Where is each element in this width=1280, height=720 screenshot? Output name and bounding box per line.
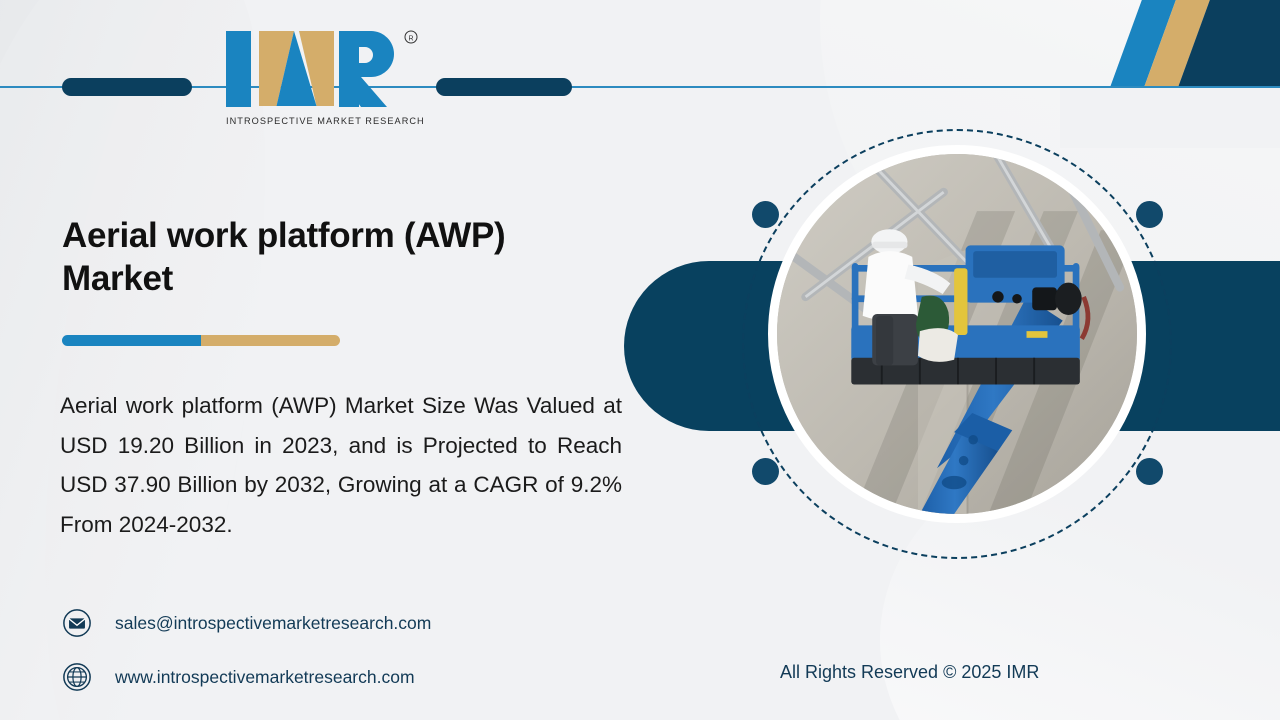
copyright-text: All Rights Reserved © 2025 IMR (780, 662, 1039, 683)
hero-photo (768, 145, 1146, 523)
contact-website-text: www.introspectivemarketresearch.com (115, 667, 415, 688)
header-bar-right (436, 78, 572, 96)
logo-mark: R (226, 28, 422, 110)
imr-logo: R INTROSPECTIVE MARKET RESEARCH (226, 28, 422, 138)
aerial-work-platform-illustration (777, 154, 1137, 514)
globe-icon (62, 662, 92, 692)
accent-segment-blue (62, 335, 201, 346)
svg-text:R: R (408, 36, 413, 43)
logo-tagline: INTROSPECTIVE MARKET RESEARCH (226, 116, 422, 126)
header-bar-left (62, 78, 192, 96)
envelope-icon (62, 608, 92, 638)
market-summary-text: Aerial work platform (AWP) Market Size W… (60, 386, 622, 544)
page-title: Aerial work platform (AWP) Market (62, 215, 622, 300)
accent-segment-gold (201, 335, 340, 346)
infographic-canvas: R INTROSPECTIVE MARKET RESEARCH Aerial w… (0, 0, 1280, 720)
logo-letters-svg: R (226, 28, 422, 110)
contact-website-row[interactable]: www.introspectivemarketresearch.com (62, 662, 415, 692)
ring-dot-top-right (1136, 201, 1163, 228)
header-divider-line (0, 86, 1280, 88)
ring-dot-top-left (752, 201, 779, 228)
ring-dot-bottom-right (1136, 458, 1163, 485)
ring-dot-bottom-left (752, 458, 779, 485)
contact-email-row[interactable]: sales@introspectivemarketresearch.com (62, 608, 431, 638)
title-accent-bar (62, 335, 340, 346)
contact-email-text: sales@introspectivemarketresearch.com (115, 613, 431, 634)
